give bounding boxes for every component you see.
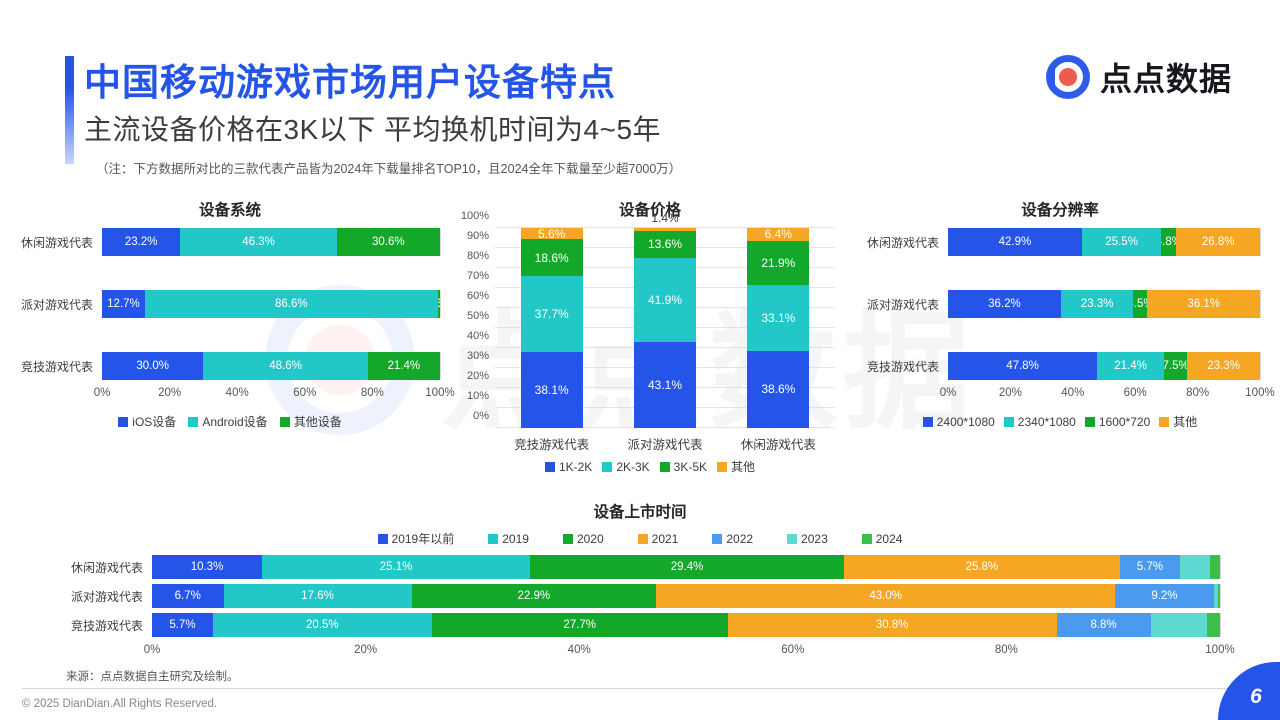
- legend-label: 2024: [876, 532, 903, 546]
- legend-swatch-icon: [712, 534, 722, 544]
- x-axis-tick-label: 0%: [144, 644, 161, 656]
- category-label: 休闲游戏代表: [860, 234, 948, 251]
- legend-label: 其他: [1173, 413, 1197, 430]
- bar-segment[interactable]: 8.8%: [1057, 613, 1151, 637]
- legend-label: 1K-2K: [559, 460, 592, 474]
- legend-swatch-icon: [923, 417, 933, 427]
- bar-segment[interactable]: 21.4%: [1097, 352, 1164, 380]
- bar-segment[interactable]: [1180, 555, 1210, 579]
- column-segment[interactable]: 43.1%: [634, 342, 696, 428]
- segment-value-label: 21.9%: [761, 256, 795, 270]
- chart-title: 设备系统: [20, 198, 440, 220]
- bar-track: 5.7%20.5%27.7%30.8%8.8%: [152, 613, 1220, 637]
- chart-plot-area: 0%10%20%30%40%50%60%70%80%90%100%38.1%37…: [495, 228, 835, 428]
- stacked-bar[interactable]: 12.7%86.6%0.6%: [102, 290, 440, 318]
- bar-segment[interactable]: 23.2%: [102, 228, 180, 256]
- bar-segment[interactable]: 21.4%: [368, 352, 440, 380]
- bar-segment[interactable]: 5.7%: [1120, 555, 1181, 579]
- bar-segment[interactable]: 48.6%: [203, 352, 367, 380]
- stacked-column[interactable]: 43.1%41.9%13.6%1.4%: [634, 228, 696, 428]
- horizontal-stacked-bar-chart: 休闲游戏代表42.9%25.5%4.8%26.8%派对游戏代表36.2%23.3…: [860, 228, 1260, 430]
- chart-panel-device-system: 设备系统 休闲游戏代表23.2%46.3%30.6%派对游戏代表12.7%86.…: [20, 198, 440, 430]
- segment-value-label: 1.4%: [651, 211, 678, 225]
- bar-segment[interactable]: 30.8%: [728, 613, 1057, 637]
- bar-track: 23.2%46.3%30.6%: [102, 228, 440, 256]
- legend-swatch-icon: [660, 462, 670, 472]
- y-axis-tick-label: 40%: [467, 330, 489, 342]
- chart-title: 设备价格: [455, 198, 845, 220]
- bar-segment[interactable]: [1218, 584, 1220, 608]
- x-axis-tick-label: 100%: [425, 387, 454, 399]
- column-segment[interactable]: 38.1%: [521, 352, 583, 428]
- chart-row: 派对游戏代表12.7%86.6%0.6%: [20, 290, 440, 318]
- chart-title: 设备上市时间: [60, 500, 1220, 522]
- x-axis-tick-label: 20%: [354, 644, 377, 656]
- legend-label: 2021: [652, 532, 679, 546]
- column-segment[interactable]: 41.9%: [634, 258, 696, 342]
- bar-segment[interactable]: 25.8%: [844, 555, 1120, 579]
- title-accent-bar: [65, 56, 74, 164]
- bar-segment[interactable]: 26.8%: [1176, 228, 1260, 256]
- bar-segment[interactable]: 10.3%: [152, 555, 262, 579]
- stacked-bar[interactable]: 47.8%21.4%7.5%23.3%: [948, 352, 1260, 380]
- y-axis-tick-label: 100%: [461, 210, 489, 222]
- segment-value-label: 18.6%: [535, 251, 569, 265]
- legend-swatch-icon: [280, 417, 290, 427]
- legend-swatch-icon: [545, 462, 555, 472]
- x-axis-tick-label: 60%: [293, 387, 316, 399]
- segment-value-label: 41.9%: [648, 293, 682, 307]
- legend-label: 2340*1080: [1018, 415, 1076, 429]
- page-note: （注：下方数据所对比的三款代表产品皆为2024年下载量排名TOP10，且2024…: [96, 158, 681, 177]
- column-segment[interactable]: 38.6%: [747, 351, 809, 428]
- chart-legend: iOS设备Android设备其他设备: [20, 413, 440, 430]
- x-axis-tick-label: 40%: [226, 387, 249, 399]
- x-axis-tick-label: 0%: [94, 387, 111, 399]
- segment-value-label: 33.1%: [761, 311, 795, 325]
- stacked-bar[interactable]: 36.2%23.3%4.5%36.1%: [948, 290, 1260, 318]
- category-label: 派对游戏代表: [20, 296, 102, 313]
- y-axis-tick-label: 90%: [467, 230, 489, 242]
- legend-item[interactable]: 2340*1080: [1004, 415, 1076, 429]
- horizontal-stacked-bar-chart: 2019年以前201920202021202220232024休闲游戏代表10.…: [60, 530, 1220, 660]
- bar-track: 10.3%25.1%29.4%25.8%5.7%: [152, 555, 1220, 579]
- legend-item[interactable]: 2019年以前: [378, 530, 455, 547]
- x-axis-tick-label: 20%: [999, 387, 1022, 399]
- legend-label: 1600*720: [1099, 415, 1150, 429]
- bar-segment[interactable]: 4.5%: [1133, 290, 1147, 318]
- bar-segment[interactable]: 23.3%: [1061, 290, 1134, 318]
- category-label: 派对游戏代表: [860, 296, 948, 313]
- bar-segment[interactable]: 5.7%: [152, 613, 213, 637]
- legend-swatch-icon: [1159, 417, 1169, 427]
- source-note: 来源：点点数据自主研究及绘制。: [66, 668, 239, 684]
- page-subtitle: 主流设备价格在3K以下 平均换机时间为4~5年: [84, 108, 661, 148]
- bar-segment[interactable]: 20.5%: [213, 613, 432, 637]
- x-axis-tick-label: 80%: [1186, 387, 1209, 399]
- column-segment[interactable]: 6.4%: [747, 228, 809, 241]
- brand-name: 点点数据: [1100, 54, 1232, 100]
- legend-swatch-icon: [602, 462, 612, 472]
- legend-item[interactable]: 1600*720: [1085, 415, 1150, 429]
- stacked-bar[interactable]: 10.3%25.1%29.4%25.8%5.7%: [152, 555, 1220, 579]
- bar-segment[interactable]: 6.7%: [152, 584, 224, 608]
- legend-item[interactable]: 1K-2K: [545, 460, 592, 474]
- page-header: 中国移动游戏市场用户设备特点 主流设备价格在3K以下 平均换机时间为4~5年 （…: [0, 0, 1280, 180]
- legend-label: 2019: [502, 532, 529, 546]
- y-axis-tick-label: 10%: [467, 390, 489, 402]
- bar-track: 6.7%17.6%22.9%43.0%9.2%: [152, 584, 1220, 608]
- bar-segment[interactable]: 47.8%: [948, 352, 1097, 380]
- bar-segment[interactable]: 29.4%: [530, 555, 844, 579]
- x-axis: 0%20%40%60%80%100%: [860, 385, 1260, 403]
- copyright-text: © 2025 DianDian.All Rights Reserved.: [22, 698, 217, 710]
- column-segment[interactable]: 5.6%: [521, 228, 583, 239]
- category-label: 休闲游戏代表: [20, 234, 102, 251]
- legend-item[interactable]: 其他: [717, 458, 755, 475]
- legend-item[interactable]: 2021: [638, 532, 679, 546]
- column-segment[interactable]: 18.6%: [521, 239, 583, 276]
- legend-item[interactable]: 2019: [488, 532, 529, 546]
- bar-track: 30.0%48.6%21.4%: [102, 352, 440, 380]
- legend-item[interactable]: 2023: [787, 532, 828, 546]
- bar-segment[interactable]: [1151, 613, 1208, 637]
- stacked-column[interactable]: 38.6%33.1%21.9%6.4%: [747, 228, 809, 428]
- bar-segment[interactable]: [1210, 555, 1220, 579]
- x-axis-tick-label: 100%: [1205, 644, 1234, 656]
- legend-label: Android设备: [202, 413, 267, 430]
- category-label: 竞技游戏代表: [20, 358, 102, 375]
- x-axis-tick-label: 20%: [158, 387, 181, 399]
- y-axis-tick-label: 30%: [467, 350, 489, 362]
- legend-label: 2022: [726, 532, 753, 546]
- page-number: 6: [1250, 685, 1262, 709]
- chart-title: 设备分辨率: [860, 198, 1260, 220]
- category-label: 休闲游戏代表: [741, 434, 816, 453]
- x-axis-tick-label: 40%: [1061, 387, 1084, 399]
- legend-item[interactable]: 2020: [563, 532, 604, 546]
- chart-panel-device-price: 设备价格 0%10%20%30%40%50%60%70%80%90%100%38…: [455, 198, 845, 475]
- segment-value-label: 43.1%: [648, 378, 682, 392]
- chart-row: 派对游戏代表36.2%23.3%4.5%36.1%: [860, 290, 1260, 318]
- legend-swatch-icon: [488, 534, 498, 544]
- y-axis-tick-label: 70%: [467, 270, 489, 282]
- bar-segment[interactable]: 7.5%: [1164, 352, 1187, 380]
- legend-item[interactable]: iOS设备: [118, 413, 176, 430]
- legend-label: 2400*1080: [937, 415, 995, 429]
- legend-label: 其他: [731, 458, 755, 475]
- stacked-column[interactable]: 38.1%37.7%18.6%5.6%: [521, 228, 583, 428]
- legend-item[interactable]: 2024: [862, 532, 903, 546]
- segment-value-label: 6.4%: [765, 227, 792, 241]
- chart-row: 竞技游戏代表30.0%48.6%21.4%: [20, 352, 440, 380]
- y-axis-tick-label: 50%: [467, 310, 489, 322]
- legend-item[interactable]: 2400*1080: [923, 415, 995, 429]
- y-axis-tick-label: 80%: [467, 250, 489, 262]
- bar-segment[interactable]: 43.0%: [656, 584, 1115, 608]
- bar-segment[interactable]: 46.3%: [180, 228, 336, 256]
- category-label: 竞技游戏代表: [60, 617, 152, 634]
- page-title: 中国移动游戏市场用户设备特点: [84, 52, 616, 106]
- chart-row: 休闲游戏代表23.2%46.3%30.6%: [20, 228, 440, 256]
- category-label: 派对游戏代表: [627, 434, 702, 453]
- bar-segment[interactable]: 27.7%: [432, 613, 728, 637]
- column-segment[interactable]: 21.9%: [747, 241, 809, 285]
- chart-row: 休闲游戏代表10.3%25.1%29.4%25.8%5.7%: [60, 555, 1220, 579]
- y-axis-tick-label: 0%: [473, 410, 489, 422]
- bar-segment[interactable]: 30.0%: [102, 352, 203, 380]
- category-label: 休闲游戏代表: [60, 559, 152, 576]
- stacked-bar[interactable]: 23.2%46.3%30.6%: [102, 228, 440, 256]
- legend-swatch-icon: [188, 417, 198, 427]
- bar-segment[interactable]: 36.1%: [1147, 290, 1260, 318]
- legend-swatch-icon: [787, 534, 797, 544]
- footer-divider: [22, 688, 1258, 689]
- bar-segment[interactable]: 22.9%: [412, 584, 657, 608]
- bar-segment[interactable]: 86.6%: [145, 290, 438, 318]
- chart-plot-area: 休闲游戏代表23.2%46.3%30.6%派对游戏代表12.7%86.6%0.6…: [20, 228, 440, 380]
- segment-value-label: 38.6%: [761, 382, 795, 396]
- brand-logo: 点点数据: [1046, 54, 1232, 100]
- legend-swatch-icon: [378, 534, 388, 544]
- chart-legend: 2019年以前201920202021202220232024: [60, 530, 1220, 547]
- bar-segment[interactable]: 23.3%: [1187, 352, 1260, 380]
- legend-label: 2020: [577, 532, 604, 546]
- y-axis-tick-label: 20%: [467, 370, 489, 382]
- legend-item[interactable]: 其他: [1159, 413, 1197, 430]
- legend-item[interactable]: Android设备: [188, 413, 267, 430]
- bar-segment[interactable]: 25.5%: [1082, 228, 1162, 256]
- legend-item[interactable]: 2022: [712, 532, 753, 546]
- stacked-bar[interactable]: 42.9%25.5%4.8%26.8%: [948, 228, 1260, 256]
- segment-value-label: 13.6%: [648, 237, 682, 251]
- legend-label: 3K-5K: [674, 460, 707, 474]
- chart-legend: 1K-2K2K-3K3K-5K其他: [455, 458, 845, 475]
- x-axis-tick-label: 60%: [781, 644, 804, 656]
- vertical-stacked-column-chart: 0%10%20%30%40%50%60%70%80%90%100%38.1%37…: [455, 228, 845, 475]
- bar-segment[interactable]: 9.2%: [1115, 584, 1213, 608]
- x-axis-tick-label: 100%: [1245, 387, 1274, 399]
- bar-segment[interactable]: 30.6%: [337, 228, 440, 256]
- legend-label: 2019年以前: [392, 530, 455, 547]
- bar-track: 12.7%86.6%0.6%: [102, 290, 440, 318]
- legend-label: 2K-3K: [616, 460, 649, 474]
- segment-value-label: 38.1%: [535, 383, 569, 397]
- legend-swatch-icon: [862, 534, 872, 544]
- chart-row: 竞技游戏代表5.7%20.5%27.7%30.8%8.8%: [60, 613, 1220, 637]
- legend-label: 2023: [801, 532, 828, 546]
- chart-panel-device-launch-time: 设备上市时间 2019年以前201920202021202220232024休闲…: [60, 500, 1220, 660]
- bar-segment[interactable]: 12.7%: [102, 290, 145, 318]
- chart-panel-device-resolution: 设备分辨率 休闲游戏代表42.9%25.5%4.8%26.8%派对游戏代表36.…: [860, 198, 1260, 430]
- column-segment[interactable]: 37.7%: [521, 276, 583, 351]
- bar-segment[interactable]: 42.9%: [948, 228, 1082, 256]
- chart-legend: 2400*10802340*10801600*720其他: [860, 413, 1260, 430]
- diandian-logo-icon: [1046, 55, 1090, 99]
- x-axis-tick-label: 0%: [940, 387, 957, 399]
- category-label: 竞技游戏代表: [860, 358, 948, 375]
- x-axis-tick-label: 40%: [568, 644, 591, 656]
- stacked-bar[interactable]: 30.0%48.6%21.4%: [102, 352, 440, 380]
- bar-segment[interactable]: 0.6%: [438, 290, 440, 318]
- bar-segment[interactable]: 25.1%: [262, 555, 530, 579]
- bar-segment[interactable]: 4.8%: [1161, 228, 1176, 256]
- horizontal-stacked-bar-chart: 休闲游戏代表23.2%46.3%30.6%派对游戏代表12.7%86.6%0.6…: [20, 228, 440, 430]
- x-axis: 0%20%40%60%80%100%: [20, 385, 440, 403]
- chart-row: 休闲游戏代表42.9%25.5%4.8%26.8%: [860, 228, 1260, 256]
- legend-swatch-icon: [1004, 417, 1014, 427]
- stacked-bar[interactable]: 5.7%20.5%27.7%30.8%8.8%: [152, 613, 1220, 637]
- bar-segment[interactable]: 36.2%: [948, 290, 1061, 318]
- column-segment[interactable]: 13.6%: [634, 231, 696, 258]
- category-label: 竞技游戏代表: [514, 434, 589, 453]
- y-axis-tick-label: 60%: [467, 290, 489, 302]
- x-axis-tick-label: 80%: [995, 644, 1018, 656]
- legend-swatch-icon: [1085, 417, 1095, 427]
- bar-track: 42.9%25.5%4.8%26.8%: [948, 228, 1260, 256]
- x-axis-tick-label: 80%: [361, 387, 384, 399]
- chart-row: 竞技游戏代表47.8%21.4%7.5%23.3%: [860, 352, 1260, 380]
- chart-plot-area: 休闲游戏代表10.3%25.1%29.4%25.8%5.7%派对游戏代表6.7%…: [60, 555, 1220, 637]
- legend-item[interactable]: 其他设备: [280, 413, 342, 430]
- legend-item[interactable]: 2K-3K: [602, 460, 649, 474]
- legend-swatch-icon: [563, 534, 573, 544]
- legend-label: 其他设备: [294, 413, 342, 430]
- x-axis: 0%20%40%60%80%100%: [60, 642, 1220, 660]
- legend-item[interactable]: 3K-5K: [660, 460, 707, 474]
- chart-row: 派对游戏代表6.7%17.6%22.9%43.0%9.2%: [60, 584, 1220, 608]
- legend-label: iOS设备: [132, 413, 176, 430]
- x-axis-tick-label: 60%: [1124, 387, 1147, 399]
- bar-segment[interactable]: [1207, 613, 1220, 637]
- legend-swatch-icon: [118, 417, 128, 427]
- legend-swatch-icon: [717, 462, 727, 472]
- chart-plot-area: 休闲游戏代表42.9%25.5%4.8%26.8%派对游戏代表36.2%23.3…: [860, 228, 1260, 380]
- stacked-bar[interactable]: 6.7%17.6%22.9%43.0%9.2%: [152, 584, 1220, 608]
- segment-value-label: 37.7%: [535, 307, 569, 321]
- column-segment[interactable]: 33.1%: [747, 285, 809, 351]
- bar-track: 47.8%21.4%7.5%23.3%: [948, 352, 1260, 380]
- bar-track: 36.2%23.3%4.5%36.1%: [948, 290, 1260, 318]
- category-label: 派对游戏代表: [60, 588, 152, 605]
- bar-segment[interactable]: 17.6%: [224, 584, 412, 608]
- legend-swatch-icon: [638, 534, 648, 544]
- page-number-badge: 6: [1218, 662, 1280, 720]
